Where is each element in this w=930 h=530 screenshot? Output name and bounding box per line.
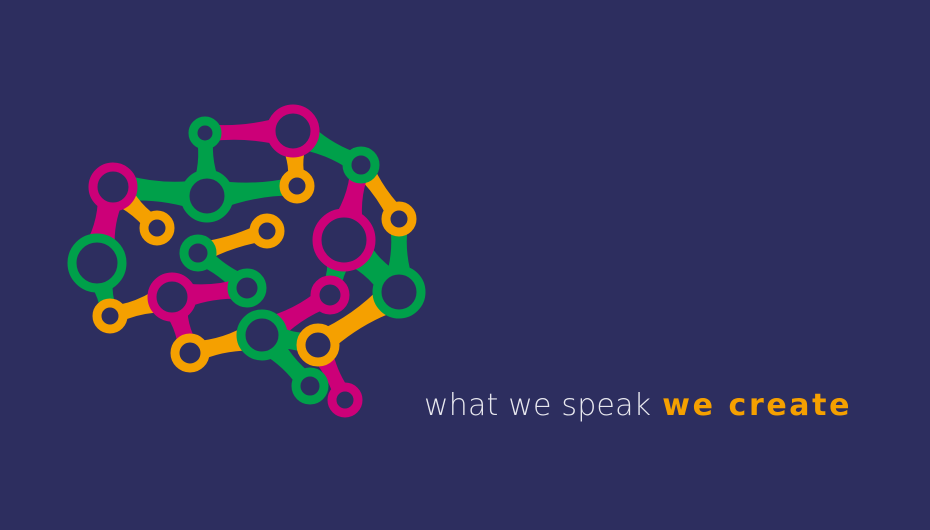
logo-node-ring (284, 173, 310, 199)
logo-node-ring (175, 338, 205, 368)
brand-logo (58, 98, 438, 438)
logo-node-ring (185, 174, 229, 218)
tagline-light-text: what we speak (424, 391, 651, 421)
logo-node-ring (152, 277, 192, 317)
logo-node-ring (97, 303, 123, 329)
logo-node-ring (377, 270, 421, 314)
logo-node-ring (184, 239, 212, 267)
logo-node-ring (93, 167, 133, 207)
logo-node-ring (301, 328, 335, 362)
logo-node-ring (193, 121, 217, 145)
logo-node-ring (271, 109, 315, 153)
poster-canvas: what we speak we create (0, 0, 930, 530)
logo-node-ring (315, 280, 345, 310)
logo-node-ring (332, 387, 358, 413)
neural-brain-logo-icon (58, 98, 438, 438)
logo-node-ring (317, 213, 371, 267)
logo-node-ring (254, 218, 280, 244)
logo-node-ring (144, 215, 170, 241)
logo-node-ring (232, 273, 262, 303)
logo-node-ring (347, 151, 375, 179)
logo-node-ring (72, 238, 122, 288)
tagline: what we speak we create (424, 391, 852, 431)
logo-node-ring (386, 206, 412, 232)
logo-node-ring (296, 372, 324, 400)
tagline-accent-text: we create (662, 391, 852, 421)
logo-node-ring (241, 314, 283, 356)
